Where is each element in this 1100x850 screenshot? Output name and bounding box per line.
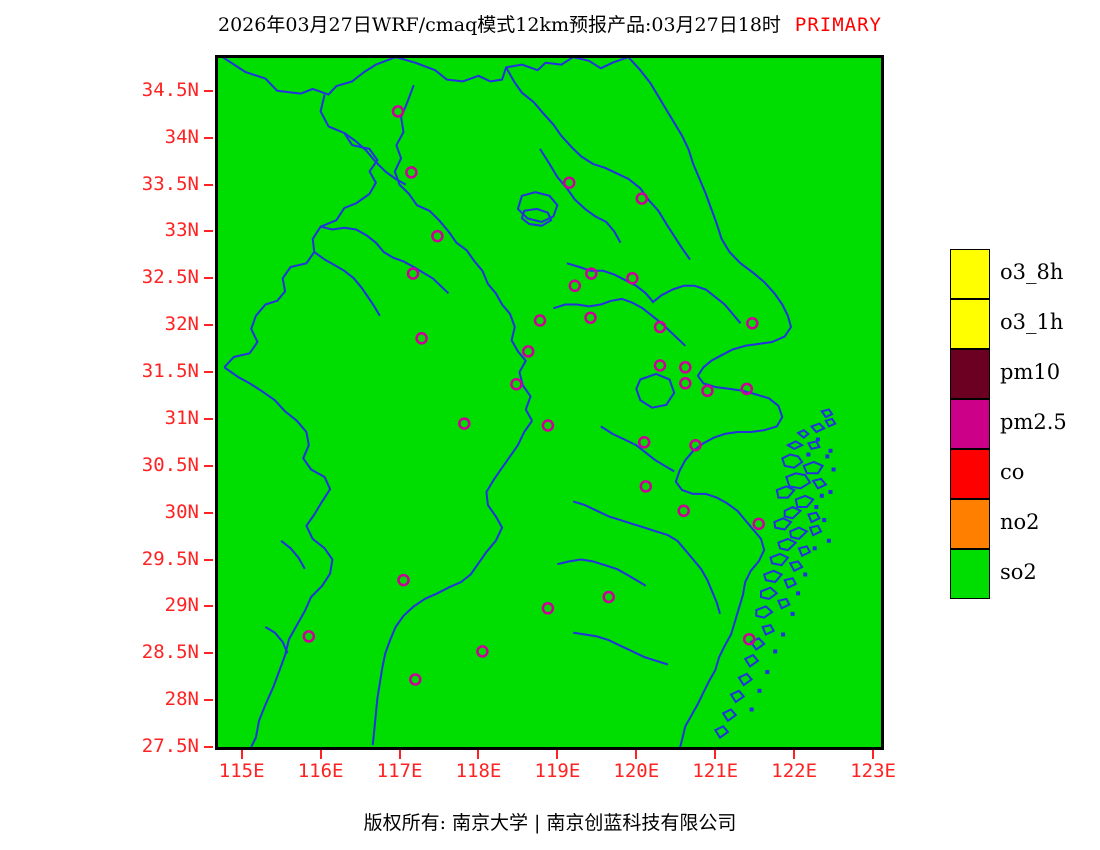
footer-owner: 版权所有: 南京大学 [364,812,528,834]
x-axis-tick [872,750,874,759]
x-axis-tick [635,750,637,759]
legend-color-swatch [950,549,990,599]
x-axis-tick [556,750,558,759]
x-axis-tick [477,750,479,759]
forecast-map-page: 2026年03月27日WRF/cmaq模式12km预报产品:03月27日18时P… [0,0,1100,850]
legend-color-swatch [950,449,990,499]
footer-separator: | [528,812,546,834]
x-axis-tick [241,750,243,759]
legend-item-label: pm10 [1000,362,1060,383]
x-axis-tick [793,750,795,759]
legend-item-label: o3_1h [1000,312,1063,333]
copyright-footer: 版权所有: 南京大学|南京创蓝科技有限公司 [0,808,1100,835]
legend-color-swatch [950,499,990,549]
x-axis-tick [714,750,716,759]
legend-color-swatch [950,299,990,349]
legend-item-label: no2 [1000,512,1040,533]
legend-item-label: co [1000,462,1024,483]
legend-item-label: o3_8h [1000,262,1063,283]
legend-color-swatch [950,249,990,299]
legend-color-swatch [950,399,990,449]
x-axis-tick [320,750,322,759]
legend-item-label: pm2.5 [1000,412,1067,433]
footer-company: 南京创蓝科技有限公司 [546,812,736,834]
x-axis-labels: 115E116E117E118E119E120E121E122E123E [0,0,1100,850]
legend-color-swatch [950,349,990,399]
x-axis-tick-label: 123E [823,762,923,781]
x-axis-tick [399,750,401,759]
legend-item-label: so2 [1000,562,1037,583]
